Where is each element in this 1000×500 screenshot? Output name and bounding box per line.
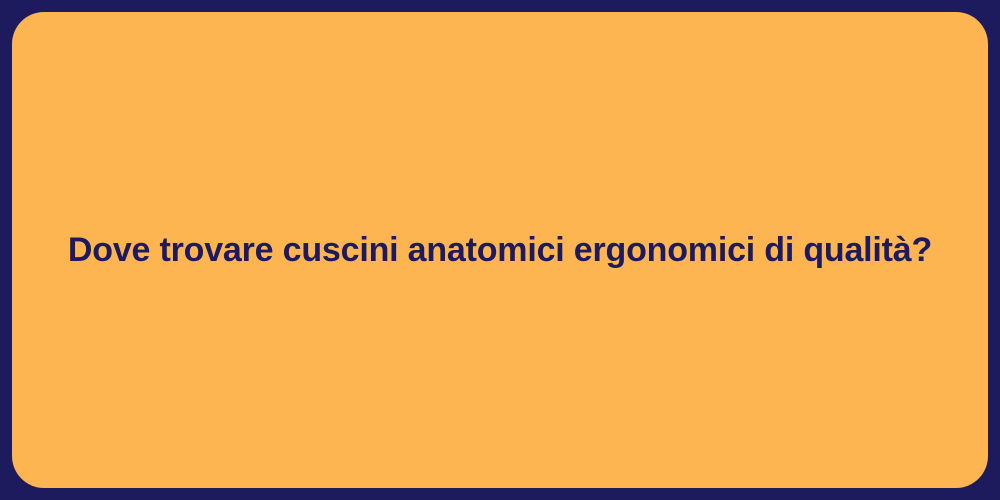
page-title: Dove trovare cuscini anatomici ergonomic… bbox=[28, 229, 972, 272]
headline-card: Dove trovare cuscini anatomici ergonomic… bbox=[12, 12, 988, 488]
page-frame: Dove trovare cuscini anatomici ergonomic… bbox=[0, 0, 1000, 500]
